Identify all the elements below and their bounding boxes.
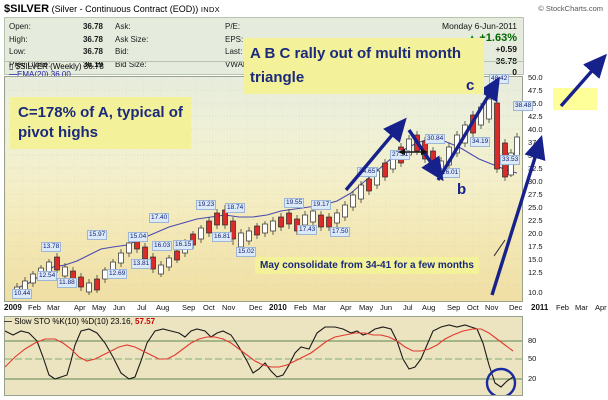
price-target-highlight-box [553,88,597,110]
price-data-label: 38.48 [513,101,533,111]
y-tick: 42.5 [528,112,543,121]
stochastic-tick: 80 [528,336,536,345]
x-tick: May [92,303,106,312]
price-data-label: 15.02 [236,247,256,257]
y-tick: 37.5 [528,138,543,147]
y-tick: 17.5 [528,242,543,251]
y-tick: 50.0 [528,73,543,82]
quote-value-ask [171,21,225,34]
price-data-label: 34.19 [470,137,490,147]
x-tick: May [359,303,373,312]
stochastic-tick: 20 [528,374,536,383]
line-swatch-icon: — [4,317,12,326]
x-tick: Apr [74,303,86,312]
quote-label-low: Low: [9,46,61,59]
x-tick: Aug [156,303,169,312]
x-tick: 2011 [531,303,548,312]
y-tick: 40.0 [528,125,543,134]
price-data-label: 16.81 [212,232,232,242]
price-data-label: 12.69 [107,269,127,279]
y-tick: 47.5 [528,86,543,95]
price-data-label: 13.78 [41,242,61,252]
price-x-axis: 2009 Feb Mar Apr May Jun Jul Aug Sep Oct… [4,303,523,315]
x-tick: 2010 [269,303,287,312]
quote-label-ask: Ask: [115,21,171,34]
x-tick: Sep [447,303,460,312]
stochastic-panel[interactable] [4,316,523,396]
x-tick: Mar [47,303,60,312]
price-data-label: 17.40 [149,213,169,223]
x-tick: 2009 [4,303,22,312]
chart-title: $SILVER (Silver - Continuous Contract (E… [4,3,220,15]
price-data-label: 19.55 [284,198,304,208]
stochastic-legend-value: 57.57 [135,317,155,326]
wave-label-b: b [457,181,466,198]
y-tick: 27.5 [528,190,543,199]
quote-row: Open: 36.78 Ask: P/E: [9,21,267,34]
chg-value: +0.59 [481,44,517,56]
y-tick: 30.0 [528,177,543,186]
price-data-label: 27.21 [390,150,410,160]
price-data-label: 24.65 [357,167,377,177]
price-data-label: 33.53 [500,155,520,165]
price-data-label: 19.17 [311,200,331,210]
x-tick: Apr [595,303,607,312]
x-tick: Nov [222,303,235,312]
quote-label-high: High: [9,34,61,47]
quote-value-bid [171,46,225,59]
quote-row: High: 36.78 Ask Size: EPS: [9,34,267,47]
x-tick: Dec [249,303,262,312]
x-tick: Oct [203,303,215,312]
change-percent: +1.63% [479,32,517,44]
x-tick: Apr [340,303,352,312]
annotation-consolidate: May consolidate from 34-41 for a few mon… [255,257,479,274]
price-data-label: 17.50 [330,227,350,237]
stochastic-tick: 50 [528,354,536,363]
price-data-label: 26.01 [440,168,460,178]
y-tick: 22.5 [528,216,543,225]
symbol-text: $SILVER [4,3,49,15]
stochastic-legend: — Slow STO %K(10) %D(10) 23.16, 57.57 [4,317,155,326]
y-tick: 35.0 [528,151,543,160]
x-tick: Jun [380,303,392,312]
y-tick: 32.5 [528,164,543,173]
quote-date: Monday 6-Jun-2011 [385,21,517,31]
quote-value-high: 36.78 [61,34,115,47]
price-data-label: 16.15 [173,240,193,250]
quote-label-bid: Bid: [115,46,171,59]
y-tick: 20.0 [528,229,543,238]
quote-row: Low: 36.78 Bid: Last: [9,46,267,59]
x-tick: Aug [422,303,435,312]
x-tick: Feb [294,303,307,312]
annotation-abc-rally: A B C rally out of multi month triangle [244,38,484,94]
stochastic-legend-text: Slow STO %K(10) %D(10) 23.16, [14,317,133,326]
y-tick: 25.0 [528,203,543,212]
x-tick: Sep [182,303,195,312]
price-data-label: 30.84 [425,134,445,144]
x-tick: Mar [575,303,588,312]
stockcharts-screenshot: $SILVER (Silver - Continuous Contract (E… [0,0,608,400]
x-tick: Mar [313,303,326,312]
price-data-label: 11.88 [57,278,77,288]
price-data-label: 15.97 [87,230,107,240]
annotation-c178: C=178% of A, typical of pivot highs [10,97,191,149]
price-data-label: 19.23 [196,200,216,210]
index-tag: INDX [201,5,220,14]
x-tick: Nov [485,303,498,312]
quote-value-asksize [171,34,225,47]
symbol-description: (Silver - Continuous Contract (EOD)) [52,4,199,14]
x-tick: Dec [509,303,522,312]
x-tick: Feb [556,303,569,312]
x-tick: Jul [137,303,147,312]
price-data-label: 17.43 [297,225,317,235]
price-data-label: 10.44 [12,289,32,299]
x-tick: Jun [113,303,125,312]
wave-label-a: a [390,120,398,137]
quote-label-open: Open: [9,21,61,34]
stockcharts-credit: © StockCharts.com [538,4,603,13]
quote-value-open: 36.78 [61,21,115,34]
quote-label-pe: P/E: [225,21,267,34]
price-data-label: 15.04 [128,232,148,242]
price-data-label: 18.74 [225,203,245,213]
quote-value-low: 36.78 [61,46,115,59]
price-data-label: 16.03 [152,241,172,251]
stochastic-y-axis: 80 50 20 [524,316,564,396]
quote-label-asksize: Ask Size: [115,34,171,47]
price-data-label: 48.42 [489,74,509,84]
wave-label-c: c [466,77,474,94]
y-tick: 10.0 [528,288,543,297]
stochastic-svg [5,317,523,396]
x-tick: Feb [28,303,41,312]
y-tick: 12.5 [528,268,543,277]
y-tick: 15.0 [528,255,543,264]
price-data-label: 13.81 [131,259,151,269]
price-data-label: 12.54 [37,271,57,281]
x-tick: Oct [467,303,479,312]
x-tick: Jul [403,303,413,312]
